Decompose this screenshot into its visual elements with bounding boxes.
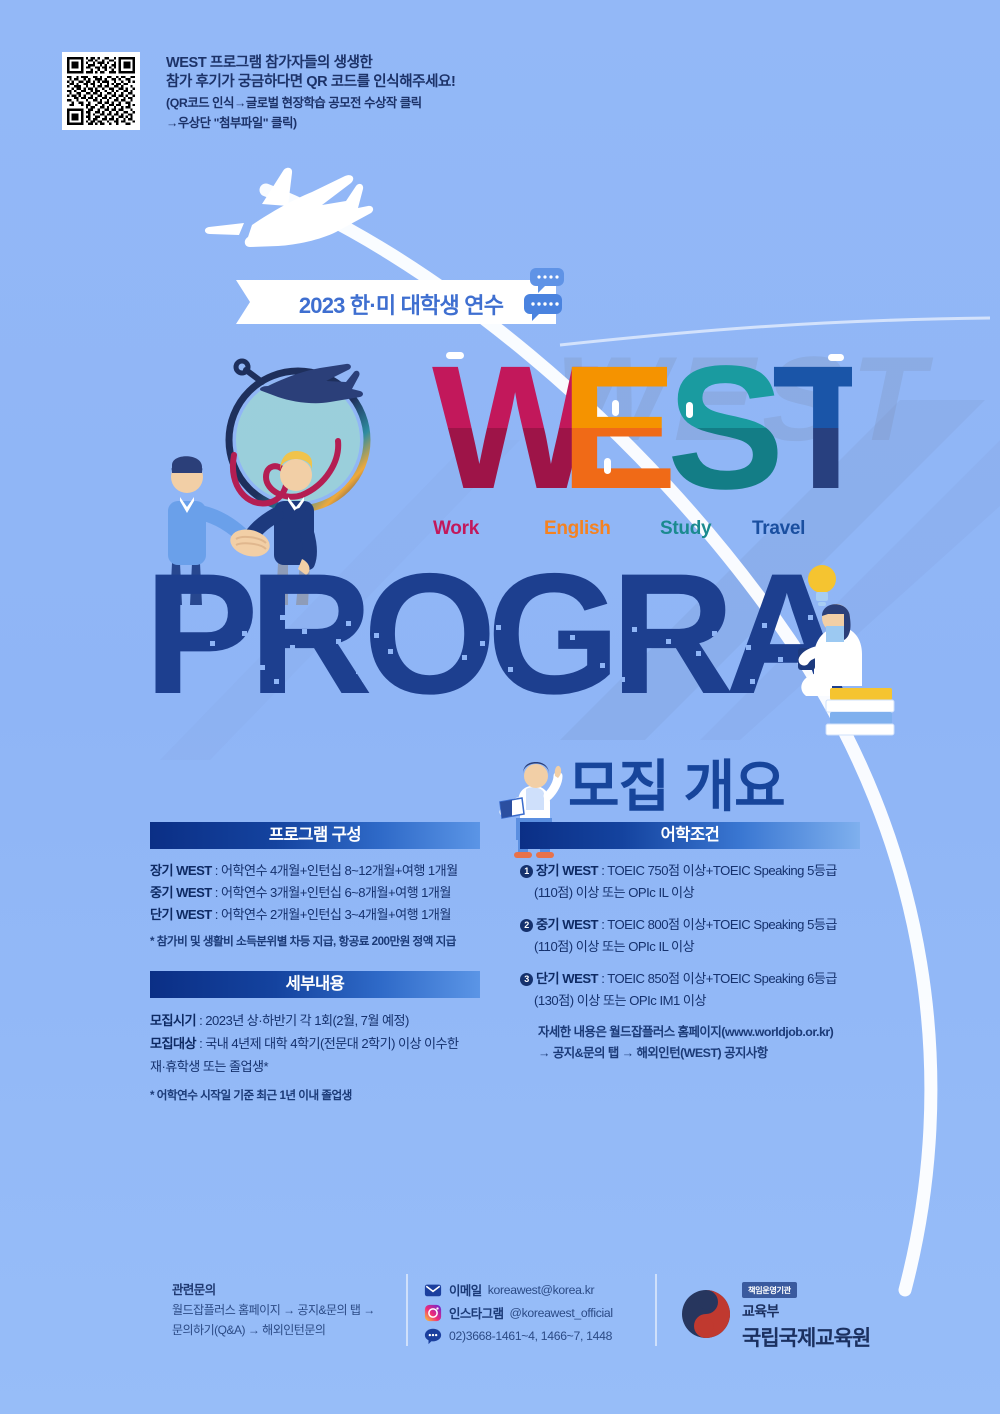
list-number-badge: 3 xyxy=(520,973,533,986)
item-spacer xyxy=(520,958,860,968)
page-title: 모집 개요 xyxy=(568,742,785,823)
list-item: 1장기 WEST : TOEIC 750점 이상+TOEIC Speaking … xyxy=(520,860,860,882)
program-wordmark: PROGRAM xyxy=(150,545,850,705)
item-term: 중기 WEST xyxy=(150,885,212,900)
list-item: 단기 WEST : 어학연수 2개월+인턴십 3~4개월+여행 1개월 xyxy=(150,904,480,926)
qr-line-4: →우상단 "첨부파일" 클릭) xyxy=(166,115,506,132)
qr-code-icon[interactable] xyxy=(62,52,140,130)
female-scientist-figure xyxy=(798,604,862,696)
footer-divider-2 xyxy=(655,1274,657,1346)
qr-line-1: WEST 프로그램 참가자들의 생생한 xyxy=(166,54,506,73)
list-item: 모집대상 : 국내 4년제 대학 4학기(전문대 2학기) 이상 이수한 xyxy=(150,1032,480,1055)
language-footnote-line-1: 자세한 내용은 월드잡플러스 홈페이지(www.worldjob.or.kr) xyxy=(520,1022,860,1043)
west-sub-study: Study xyxy=(660,518,711,540)
qr-header-block: WEST 프로그램 참가자들의 생생한 참가 후기가 궁금하다면 QR 코드를 … xyxy=(62,52,492,164)
svg-text:T: T xyxy=(772,340,852,510)
contact-value: koreawest@korea.kr xyxy=(488,1283,595,1297)
item-spacer xyxy=(520,904,860,914)
envelope-icon xyxy=(424,1281,442,1299)
footer-government-logo: 책임운영기관 교육부 국립국제교육원 xyxy=(678,1280,908,1350)
list-item: 3단기 WEST : TOEIC 850점 이상+TOEIC Speaking … xyxy=(520,968,860,990)
chat-bubble-icon xyxy=(424,1327,442,1345)
program-composition-list: 장기 WEST : 어학연수 4개월+인턴십 8~12개월+여행 1개월 중기 … xyxy=(150,860,480,951)
item-desc: : 어학연수 2개월+인턴십 3~4개월+여행 1개월 xyxy=(212,907,451,922)
list-item: 모집시기 : 2023년 상·하반기 각 1회(2월, 7월 예정) xyxy=(150,1009,480,1032)
footer-inquiry-line-2: 문의하기(Q&A) → 해외인턴문의 xyxy=(172,1320,422,1340)
speech-bubbles-icon xyxy=(512,266,576,328)
list-item: 2중기 WEST : TOEIC 800점 이상+TOEIC Speaking … xyxy=(520,914,860,936)
korea-taegeuk-emblem-icon xyxy=(678,1286,734,1342)
item-term: 단기 WEST xyxy=(536,971,598,986)
footer-inquiry-line-1: 월드잡플러스 홈페이지 → 공지&문의 탭 → xyxy=(172,1300,422,1320)
ribbon-label: 2023 한·미 대학생 연수 xyxy=(276,288,526,320)
west-sub-work: Work xyxy=(433,518,479,540)
svg-text:S: S xyxy=(667,340,778,510)
item-desc: : TOEIC 750점 이상+TOEIC Speaking 5등급 xyxy=(598,863,837,878)
item-desc-continued: (130점) 이상 또는 OPIc IM1 이상 xyxy=(520,990,860,1012)
program-text: PROGRAM xyxy=(150,545,850,705)
item-term: 모집대상 xyxy=(150,1036,196,1051)
scientist-lightbulb-illustration xyxy=(792,556,902,746)
qr-line-3: (QR코드 인식→글로벌 현장학습 공모전 수상작 클릭 xyxy=(166,95,506,112)
details-note: * 어학연수 시작일 기준 최근 1년 이내 졸업생 xyxy=(150,1086,480,1105)
item-term: 장기 WEST xyxy=(536,863,598,878)
section-spacer xyxy=(150,951,480,971)
list-number-badge: 2 xyxy=(520,919,533,932)
west-sub-travel: Travel xyxy=(752,518,805,540)
footer-divider-1 xyxy=(406,1274,408,1346)
item-term: 중기 WEST xyxy=(536,917,598,932)
west-sub-english: English xyxy=(544,518,611,540)
contact-label: 인스타그램 xyxy=(449,1304,504,1322)
contact-value: @koreawest_official xyxy=(510,1306,613,1320)
instagram-icon xyxy=(424,1304,442,1322)
list-item: 중기 WEST : 어학연수 3개월+인턴십 6~8개월+여행 1개월 xyxy=(150,882,480,904)
contact-label: 이메일 xyxy=(449,1281,482,1299)
lightbulb-icon xyxy=(808,565,836,606)
ribbon-banner: 2023 한·미 대학생 연수 xyxy=(236,280,556,324)
qr-instructions: WEST 프로그램 참가자들의 생생한 참가 후기가 궁금하다면 QR 코드를 … xyxy=(166,54,506,132)
left-content-column: 프로그램 구성 장기 WEST : 어학연수 4개월+인턴십 8~12개월+여행… xyxy=(150,822,480,1105)
government-ministry: 교육부 xyxy=(742,1301,870,1321)
government-institute: 국립국제교육원 xyxy=(742,1322,870,1352)
item-desc: : 어학연수 4개월+인턴십 8~12개월+여행 1개월 xyxy=(212,863,458,878)
contact-row-email[interactable]: 이메일 koreawest@korea.kr xyxy=(424,1278,654,1301)
list-number-badge: 1 xyxy=(520,865,533,878)
west-sublabels: Work English Study Travel xyxy=(432,518,852,546)
footer-inquiry-block: 관련문의 월드잡플러스 홈페이지 → 공지&문의 탭 → 문의하기(Q&A) →… xyxy=(172,1280,422,1340)
program-composition-note: * 참가비 및 생활비 소득분위별 차등 지급, 항공료 200만원 정액 지급 xyxy=(150,932,480,951)
item-term: 단기 WEST xyxy=(150,907,212,922)
government-text-block: 책임운영기관 교육부 국립국제교육원 xyxy=(742,1280,870,1352)
west-wordmark: W E S T xyxy=(432,340,852,510)
qr-line-2: 참가 후기가 궁금하다면 QR 코드를 인식해주세요! xyxy=(166,73,506,92)
contact-row-instagram[interactable]: 인스타그램 @koreawest_official xyxy=(424,1301,654,1324)
item-term: 모집시기 xyxy=(150,1013,196,1028)
item-desc: : 국내 4년제 대학 4학기(전문대 2학기) 이상 이수한 xyxy=(196,1036,459,1051)
section-header-language-requirements: 어학조건 xyxy=(520,822,860,849)
svg-text:E: E xyxy=(560,340,671,510)
item-desc-continued: (110점) 이상 또는 OPIc IL 이상 xyxy=(520,882,860,904)
right-content-column: 어학조건 1장기 WEST : TOEIC 750점 이상+TOEIC Spea… xyxy=(520,822,860,1064)
footer-contacts-block: 이메일 koreawest@korea.kr 인스타그램 @ko xyxy=(424,1278,654,1347)
item-desc: : TOEIC 800점 이상+TOEIC Speaking 5등급 xyxy=(598,917,837,932)
details-wrap-line: 재·휴학생 또는 졸업생* xyxy=(150,1055,480,1078)
government-badge: 책임운영기관 xyxy=(742,1282,797,1298)
poster-root: WEST xyxy=(0,0,1000,1414)
details-list: 모집시기 : 2023년 상·하반기 각 1회(2월, 7월 예정) 모집대상 … xyxy=(150,1009,480,1105)
footer: 관련문의 월드잡플러스 홈페이지 → 공지&문의 탭 → 문의하기(Q&A) →… xyxy=(0,1262,1000,1382)
item-desc: : 어학연수 3개월+인턴십 6~8개월+여행 1개월 xyxy=(212,885,451,900)
contact-value: 02)3668-1461~4, 1466~7, 1448 xyxy=(449,1329,612,1343)
item-term: 장기 WEST xyxy=(150,863,212,878)
language-footnote-line-2: → 공지&문의 탭 → 해외인턴(WEST) 공지사항 xyxy=(520,1043,860,1064)
language-requirements-list: 1장기 WEST : TOEIC 750점 이상+TOEIC Speaking … xyxy=(520,860,860,1064)
item-spacer xyxy=(520,1012,860,1022)
item-desc-continued: (110점) 이상 또는 OPIc IL 이상 xyxy=(520,936,860,958)
section-header-details: 세부내용 xyxy=(150,971,480,998)
item-desc: : TOEIC 850점 이상+TOEIC Speaking 6등급 xyxy=(598,971,837,986)
book-stack-illustration xyxy=(826,688,894,735)
item-desc: : 2023년 상·하반기 각 1회(2월, 7월 예정) xyxy=(196,1013,409,1028)
contact-row-phone[interactable]: 02)3668-1461~4, 1466~7, 1448 xyxy=(424,1324,654,1347)
list-item: 장기 WEST : 어학연수 4개월+인턴십 8~12개월+여행 1개월 xyxy=(150,860,480,882)
section-header-program-composition: 프로그램 구성 xyxy=(150,822,480,849)
footer-inquiry-title: 관련문의 xyxy=(172,1280,422,1300)
